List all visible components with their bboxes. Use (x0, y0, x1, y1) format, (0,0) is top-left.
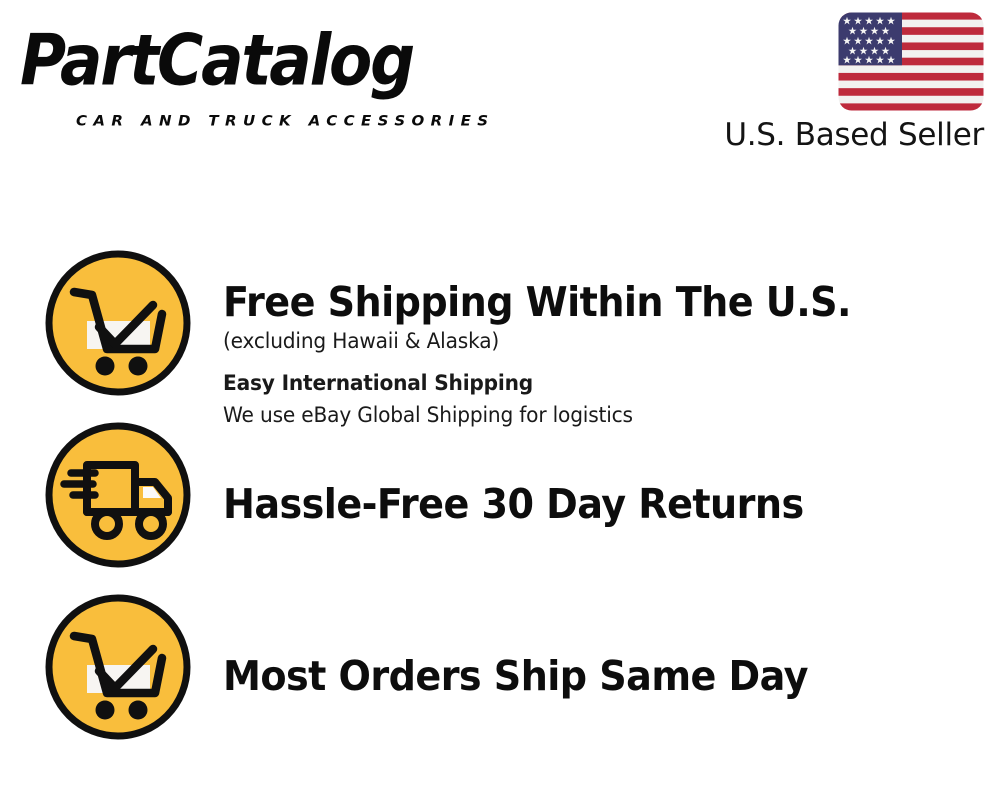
benefit-text-block: Most Orders Ship Same Day (223, 652, 983, 700)
shopping-cart-check-icon (43, 248, 193, 398)
benefit-text-block: Hassle-Free 30 Day Returns (223, 480, 983, 528)
benefit-title: Most Orders Ship Same Day (223, 652, 930, 700)
delivery-truck-icon (43, 420, 193, 570)
benefit-title: Hassle-Free 30 Day Returns (223, 480, 930, 528)
benefit-title: Free Shipping Within The U.S. (223, 278, 930, 326)
brand-logo: PartCatalog CAR AND TRUCK ACCESSORIES (20, 22, 490, 114)
us-based-seller-label: U.S. Based Seller (724, 116, 984, 154)
benefit-row: Free Shipping Within The U.S. (excluding… (0, 248, 1000, 420)
benefit-row: Most Orders Ship Same Day (0, 592, 1000, 764)
shopping-cart-check-icon (43, 592, 193, 742)
benefit-subline: Easy International Shipping (223, 368, 953, 399)
benefit-text-block: Free Shipping Within The U.S. (excluding… (223, 278, 983, 431)
brand-tagline: CAR AND TRUCK ACCESSORIES (76, 112, 494, 129)
brand-wordmark: PartCatalog (20, 22, 413, 100)
us-flag-icon (838, 12, 984, 111)
benefit-row: Hassle-Free 30 Day Returns (0, 420, 1000, 592)
seller-banner: PartCatalog CAR AND TRUCK ACCESSORIES (0, 0, 1000, 800)
benefit-subline: (excluding Hawaii & Alaska) (223, 326, 953, 357)
